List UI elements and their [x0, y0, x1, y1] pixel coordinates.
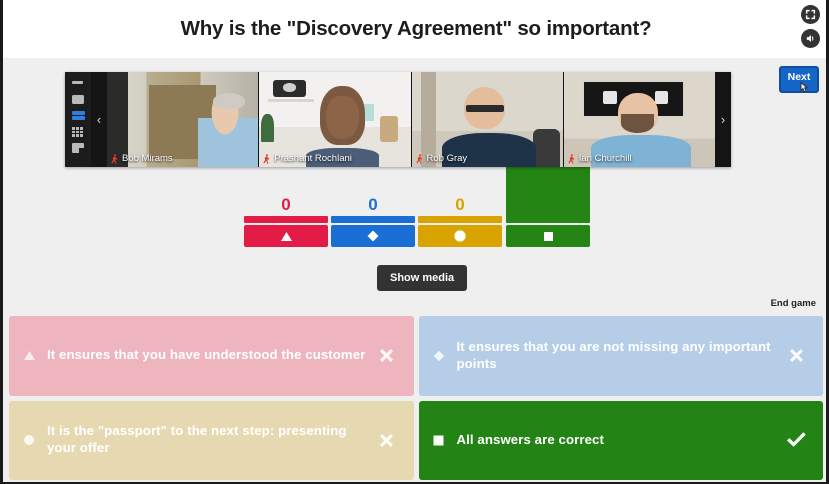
bar-base-triangle: [244, 225, 328, 247]
participant-name: Rob Gray: [427, 153, 468, 164]
sidebar-view-icon[interactable]: [72, 143, 85, 152]
video-next-arrow[interactable]: ›: [715, 72, 731, 167]
bar-count-diamond: 0: [368, 196, 377, 213]
runner-icon: [110, 153, 118, 164]
grid-view-icon[interactable]: [72, 127, 85, 136]
answer-card-square[interactable]: All answers are correct: [419, 401, 824, 481]
single-view-icon[interactable]: [72, 95, 85, 104]
video-prev-arrow[interactable]: ‹: [91, 72, 107, 167]
bar-count-triangle: 0: [281, 196, 290, 213]
video-tiles: Bob Mirams Prashant Rochlani Rob Gray: [107, 72, 715, 167]
diamond-icon: [366, 229, 380, 243]
bar-count-circle: 0: [455, 196, 464, 213]
bar-group-square: [506, 154, 590, 247]
runner-icon: [262, 153, 270, 164]
triangle-icon: [279, 230, 294, 243]
bar-base-diamond: [331, 225, 415, 247]
bar-group-triangle: 0: [244, 196, 328, 247]
bar-base-circle: [418, 225, 502, 247]
bar-fill-diamond: [331, 216, 415, 223]
end-game-button[interactable]: End game: [771, 298, 816, 309]
minimize-icon[interactable]: [72, 79, 85, 88]
video-layout-sidebar: [65, 72, 91, 167]
cross-icon: [374, 345, 400, 366]
header-icon-group: [801, 5, 820, 48]
runner-icon: [567, 153, 575, 164]
answer-card-triangle[interactable]: It ensures that you have understood the …: [9, 316, 414, 396]
check-icon: [783, 430, 809, 450]
video-tile[interactable]: Prashant Rochlani: [259, 72, 411, 167]
circle-icon: [21, 434, 37, 446]
video-tile[interactable]: Bob Mirams: [107, 72, 259, 167]
answer-card-circle[interactable]: It is the "passport" to the next step: p…: [9, 401, 414, 481]
video-tile[interactable]: Rob Gray: [412, 72, 564, 167]
participant-name-tag: Rob Gray: [412, 152, 473, 165]
participant-name: Prashant Rochlani: [274, 153, 352, 164]
participant-name: Bob Mirams: [122, 153, 173, 164]
bar-base-square: [506, 225, 590, 247]
diamond-icon: [431, 350, 447, 362]
quiz-screen: Why is the "Discovery Agreement" so impo…: [0, 0, 829, 484]
show-media-button[interactable]: Show media: [377, 265, 467, 291]
answer-card-diamond[interactable]: It ensures that you are not missing any …: [419, 316, 824, 396]
sound-icon[interactable]: [801, 29, 820, 48]
answer-grid: It ensures that you have understood the …: [9, 316, 823, 480]
video-tile[interactable]: Ian Churchill: [564, 72, 715, 167]
answer-text: It ensures that you have understood the …: [47, 347, 374, 364]
square-icon: [542, 230, 555, 243]
participant-name: Ian Churchill: [579, 153, 632, 164]
participant-name-tag: Ian Churchill: [564, 152, 637, 165]
question-header: Why is the "Discovery Agreement" so impo…: [3, 0, 829, 58]
triangle-icon: [21, 350, 37, 361]
answer-text: It ensures that you are not missing any …: [457, 339, 784, 373]
bar-fill-circle: [418, 216, 502, 223]
video-participant-strip: ‹ Bob Mirams Prashant Rochlani: [65, 72, 731, 167]
bar-group-diamond: 0: [331, 196, 415, 247]
circle-icon: [453, 229, 467, 243]
answer-text: It is the "passport" to the next step: p…: [47, 423, 374, 457]
fullscreen-icon[interactable]: [801, 5, 820, 24]
split-view-icon[interactable]: [72, 111, 85, 120]
square-icon: [431, 435, 447, 446]
participant-name-tag: Prashant Rochlani: [259, 152, 357, 165]
result-bars: 0 0 0: [3, 167, 829, 257]
participant-name-tag: Bob Mirams: [107, 152, 178, 165]
page-title: Why is the "Discovery Agreement" so impo…: [181, 17, 652, 41]
cross-icon: [374, 430, 400, 451]
mouse-cursor: [798, 81, 812, 102]
runner-icon: [415, 153, 423, 164]
cross-icon: [783, 345, 809, 366]
answer-text: All answers are correct: [457, 432, 784, 449]
bar-group-circle: 0: [418, 196, 502, 247]
bar-fill-triangle: [244, 216, 328, 223]
